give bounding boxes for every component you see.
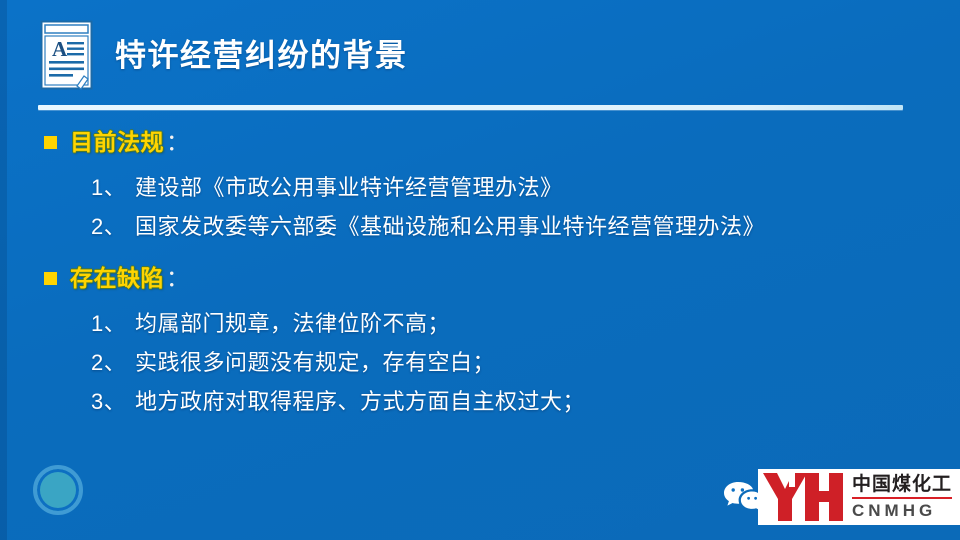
slide-body: 目前法规： 1、 建设部《市政公用事业特许经营管理办法》 2、 国家发改委等六部… xyxy=(44,124,924,417)
left-edge-strip xyxy=(0,0,7,540)
section-current-regulations: 目前法规： 1、 建设部《市政公用事业特许经营管理办法》 2、 国家发改委等六部… xyxy=(44,124,924,238)
circle-ring-icon xyxy=(33,465,83,515)
list-item: 1、 建设部《市政公用事业特许经营管理办法》 xyxy=(44,177,924,199)
yellow-square-bullet-icon xyxy=(44,272,57,285)
section-existing-defects: 存在缺陷： 1、 均属部门规章，法律位阶不高； 2、 实践很多问题没有规定，存有… xyxy=(44,260,924,413)
document-text-icon: A xyxy=(40,20,93,90)
yellow-square-bullet-icon xyxy=(44,136,57,149)
slide-title-row: A 特许经营纠纷的背景 xyxy=(40,18,408,92)
cnmhg-wordmark: 中国煤化工 CNMHG xyxy=(846,469,960,525)
list-item-number: 1、 xyxy=(91,177,135,199)
footer-watermark-group: 天 中国煤化工 CNMHG xyxy=(723,468,960,526)
presentation-slide: A 特许经营纠纷的背景 目前法规： 1、 建设部《市政公用事业特许经营管理办法》 xyxy=(0,0,960,540)
section-heading-row: 目前法规： xyxy=(44,124,924,160)
list-item-text: 国家发改委等六部委《基础设施和公用事业特许经营管理办法》 xyxy=(135,216,924,238)
list-item-number: 1、 xyxy=(91,313,135,335)
list-item: 2、 实践很多问题没有规定，存有空白； xyxy=(44,352,924,374)
list-item-number: 2、 xyxy=(91,216,135,238)
wechat-icon xyxy=(723,480,763,514)
list-item: 1、 均属部门规章，法律位阶不高； xyxy=(44,313,924,335)
section-spacer xyxy=(44,242,924,260)
list-item: 3、 地方政府对取得程序、方式方面自主权过大； xyxy=(44,391,924,413)
section-heading-row: 存在缺陷： xyxy=(44,260,924,296)
title-divider-rule xyxy=(38,105,903,110)
cnmhg-english-name: CNMHG xyxy=(852,502,952,519)
cnmhg-logo: 中国煤化工 CNMHG xyxy=(758,469,960,525)
section-heading: 目前法规： xyxy=(70,131,190,154)
list-item-text: 建设部《市政公用事业特许经营管理办法》 xyxy=(135,177,924,199)
cnmhg-red-rule xyxy=(852,497,952,499)
yh-logo-mark xyxy=(758,469,846,525)
list-item-text: 均属部门规章，法律位阶不高； xyxy=(135,313,924,335)
list-item-text: 地方政府对取得程序、方式方面自主权过大； xyxy=(135,391,924,413)
cnmhg-chinese-name: 中国煤化工 xyxy=(852,475,952,496)
list-item-number: 3、 xyxy=(91,391,135,413)
page-title: 特许经营纠纷的背景 xyxy=(115,40,408,71)
list-item-number: 2、 xyxy=(91,352,135,374)
list-item-text: 实践很多问题没有规定，存有空白； xyxy=(135,352,924,374)
section-heading: 存在缺陷： xyxy=(70,267,190,290)
svg-text:A: A xyxy=(52,37,68,61)
list-item: 2、 国家发改委等六部委《基础设施和公用事业特许经营管理办法》 xyxy=(44,216,924,238)
